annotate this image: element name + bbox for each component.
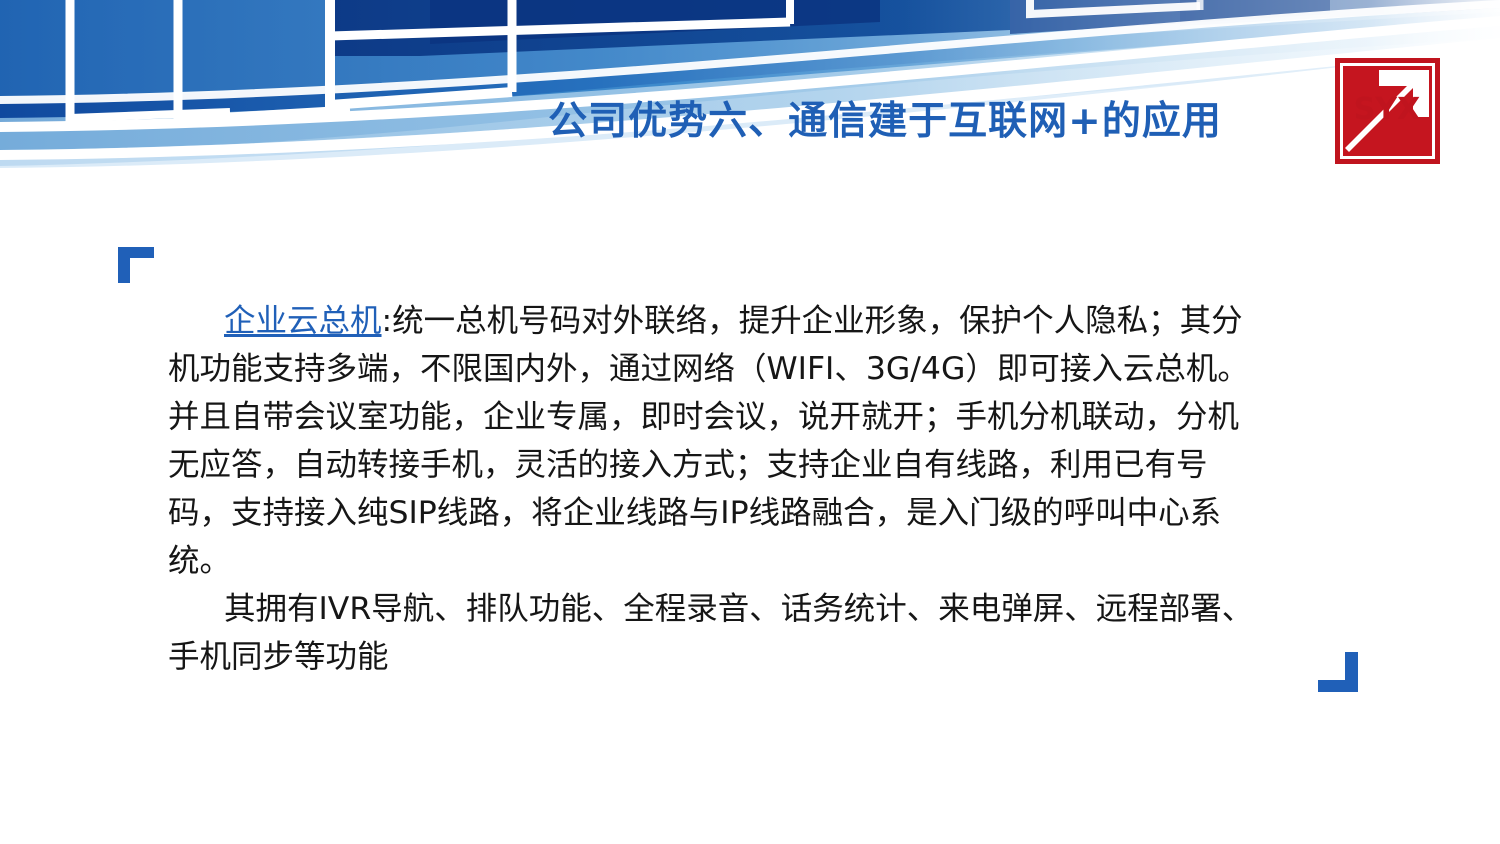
logo-text: SYX <box>1354 92 1420 127</box>
header-banner-graphic <box>0 0 1500 190</box>
paragraph-2-text: 其拥有IVR导航、排队功能、全程录音、话务统计、来电弹屏、远程部署、手机同步等功… <box>168 591 1253 675</box>
keyword-enterprise-cloud-pbx: 企业云总机 <box>224 303 382 339</box>
page-title: 公司优势六、通信建于互联网+的应用 <box>470 100 1300 145</box>
paragraph-1-text: :统一总机号码对外联络，提升企业形象，保护个人隐私；其分机功能支持多端，不限国内… <box>168 303 1249 579</box>
paragraph-2: 其拥有IVR导航、排队功能、全程录音、话务统计、来电弹屏、远程部署、手机同步等功… <box>168 585 1263 681</box>
corner-bracket-top-left-icon <box>118 247 154 283</box>
corner-bracket-bottom-right-icon <box>1318 652 1358 692</box>
slide-canvas: SYX 公司优势六、通信建于互联网+的应用 企业云总机:统一总机号码对外联络，提… <box>0 0 1500 844</box>
syx-logo: SYX <box>1334 57 1441 165</box>
paragraph-1: 企业云总机:统一总机号码对外联络，提升企业形象，保护个人隐私；其分机功能支持多端… <box>168 297 1263 585</box>
body-text-block: 企业云总机:统一总机号码对外联络，提升企业形象，保护个人隐私；其分机功能支持多端… <box>168 297 1263 681</box>
